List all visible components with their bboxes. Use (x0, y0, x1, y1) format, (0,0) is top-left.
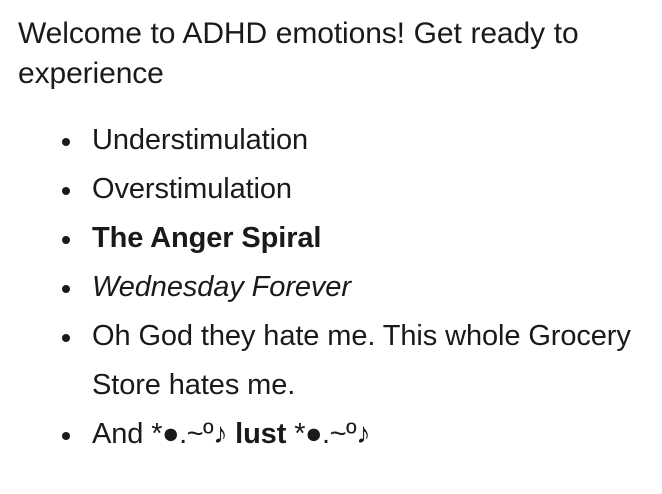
list-item: Wednesday Forever (18, 263, 646, 312)
list-item: Oh God they hate me. This whole Grocery … (18, 312, 646, 410)
list-item: The Anger Spiral (18, 214, 646, 263)
list-item: And *●.~º♪ lust *●.~º♪ (18, 410, 646, 459)
page-title: Welcome to ADHD emotions! Get ready to e… (18, 14, 646, 94)
kaomoji-decoration-left: *●.~º♪ (151, 418, 227, 450)
list-item-label: Overstimulation (92, 173, 292, 205)
emotions-list: Understimulation Overstimulation The Ang… (18, 116, 646, 459)
list-item-prefix: And (92, 418, 151, 450)
list-item-label: Oh God they hate me. This whole Grocery … (92, 320, 631, 401)
list-item-label: Understimulation (92, 124, 308, 156)
list-item-emphasis: lust (227, 418, 294, 450)
list-item-label: Wednesday Forever (92, 271, 351, 303)
kaomoji-decoration-right: *●.~º♪ (294, 418, 370, 450)
list-item: Understimulation (18, 116, 646, 165)
list-item: Overstimulation (18, 165, 646, 214)
text-post-canvas: Welcome to ADHD emotions! Get ready to e… (0, 0, 662, 494)
list-item-label: The Anger Spiral (92, 222, 321, 254)
